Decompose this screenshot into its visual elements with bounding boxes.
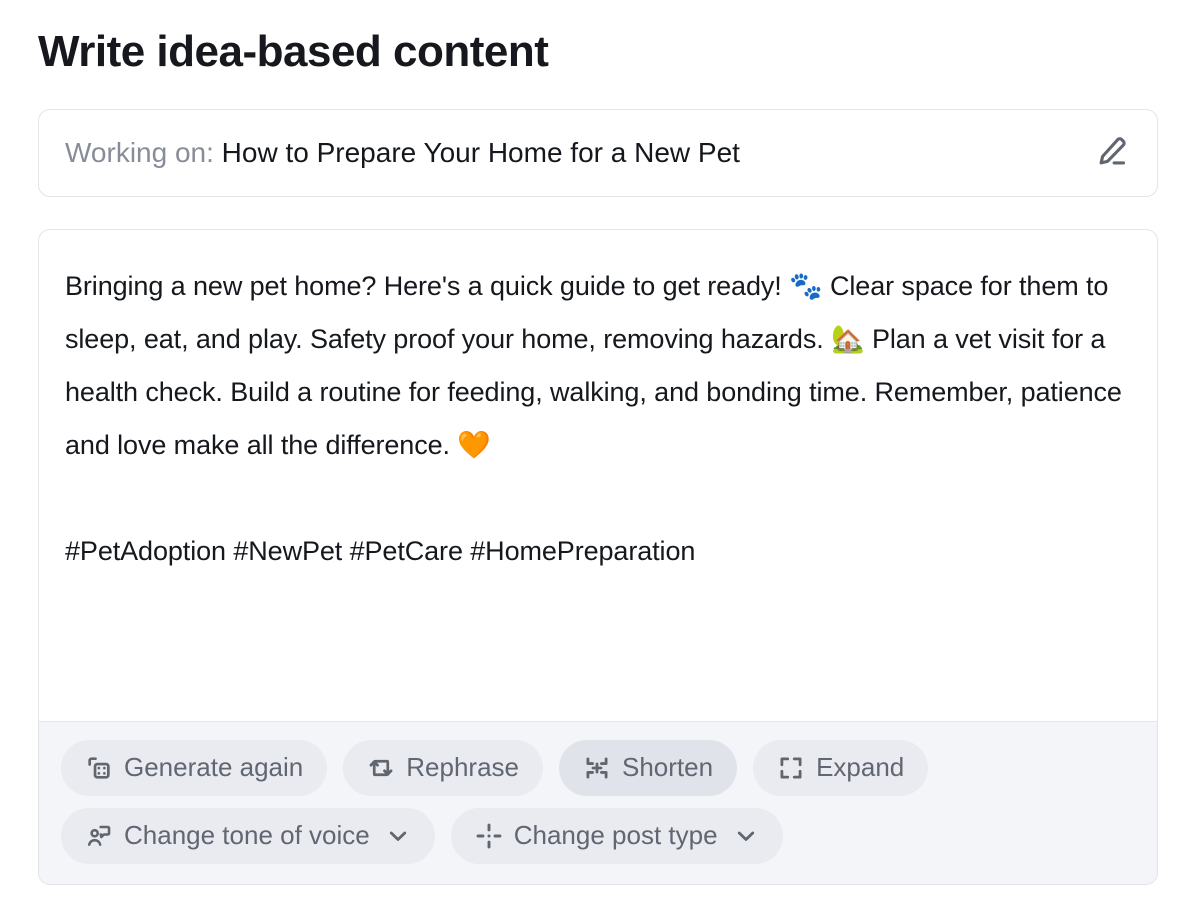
generated-content-text[interactable]: Bringing a new pet home? Here's a quick … — [39, 230, 1157, 721]
change-post-type-label: Change post type — [514, 822, 718, 848]
generate-again-button[interactable]: Generate again — [61, 740, 327, 796]
working-on-bar[interactable]: Working on: How to Prepare Your Home for… — [38, 109, 1158, 197]
person-speech-icon — [85, 822, 113, 850]
content-actions-toolbar: Generate again Rephrase — [39, 721, 1157, 884]
change-post-type-button[interactable]: Change post type — [451, 808, 783, 864]
working-on-value: How to Prepare Your Home for a New Pet — [222, 137, 740, 168]
rephrase-button[interactable]: Rephrase — [343, 740, 543, 796]
crosshair-dashed-icon — [475, 822, 503, 850]
expand-corners-icon — [777, 754, 805, 782]
generate-again-label: Generate again — [124, 754, 303, 780]
working-on-text: Working on: How to Prepare Your Home for… — [65, 135, 1089, 170]
page-title: Write idea-based content — [38, 0, 1158, 79]
change-tone-of-voice-label: Change tone of voice — [124, 822, 370, 848]
working-on-label: Working on: — [65, 137, 214, 168]
generated-content-card: Bringing a new pet home? Here's a quick … — [38, 229, 1158, 885]
chevron-down-icon — [733, 823, 759, 849]
edit-topic-button[interactable] — [1089, 131, 1133, 175]
expand-button[interactable]: Expand — [753, 740, 928, 796]
shorten-button[interactable]: Shorten — [559, 740, 737, 796]
copy-icon — [85, 754, 113, 782]
collapse-arrows-icon — [583, 754, 611, 782]
rephrase-label: Rephrase — [406, 754, 519, 780]
shorten-label: Shorten — [622, 754, 713, 780]
expand-label: Expand — [816, 754, 904, 780]
content-paragraph: Bringing a new pet home? Here's a quick … — [65, 260, 1131, 472]
change-tone-of-voice-button[interactable]: Change tone of voice — [61, 808, 435, 864]
loop-arrows-icon — [367, 754, 395, 782]
pencil-icon — [1094, 134, 1128, 171]
chevron-down-icon — [385, 823, 411, 849]
content-hashtags: #PetAdoption #NewPet #PetCare #HomePrepa… — [65, 525, 1131, 578]
content-generator-panel: Write idea-based content Working on: How… — [0, 0, 1196, 922]
